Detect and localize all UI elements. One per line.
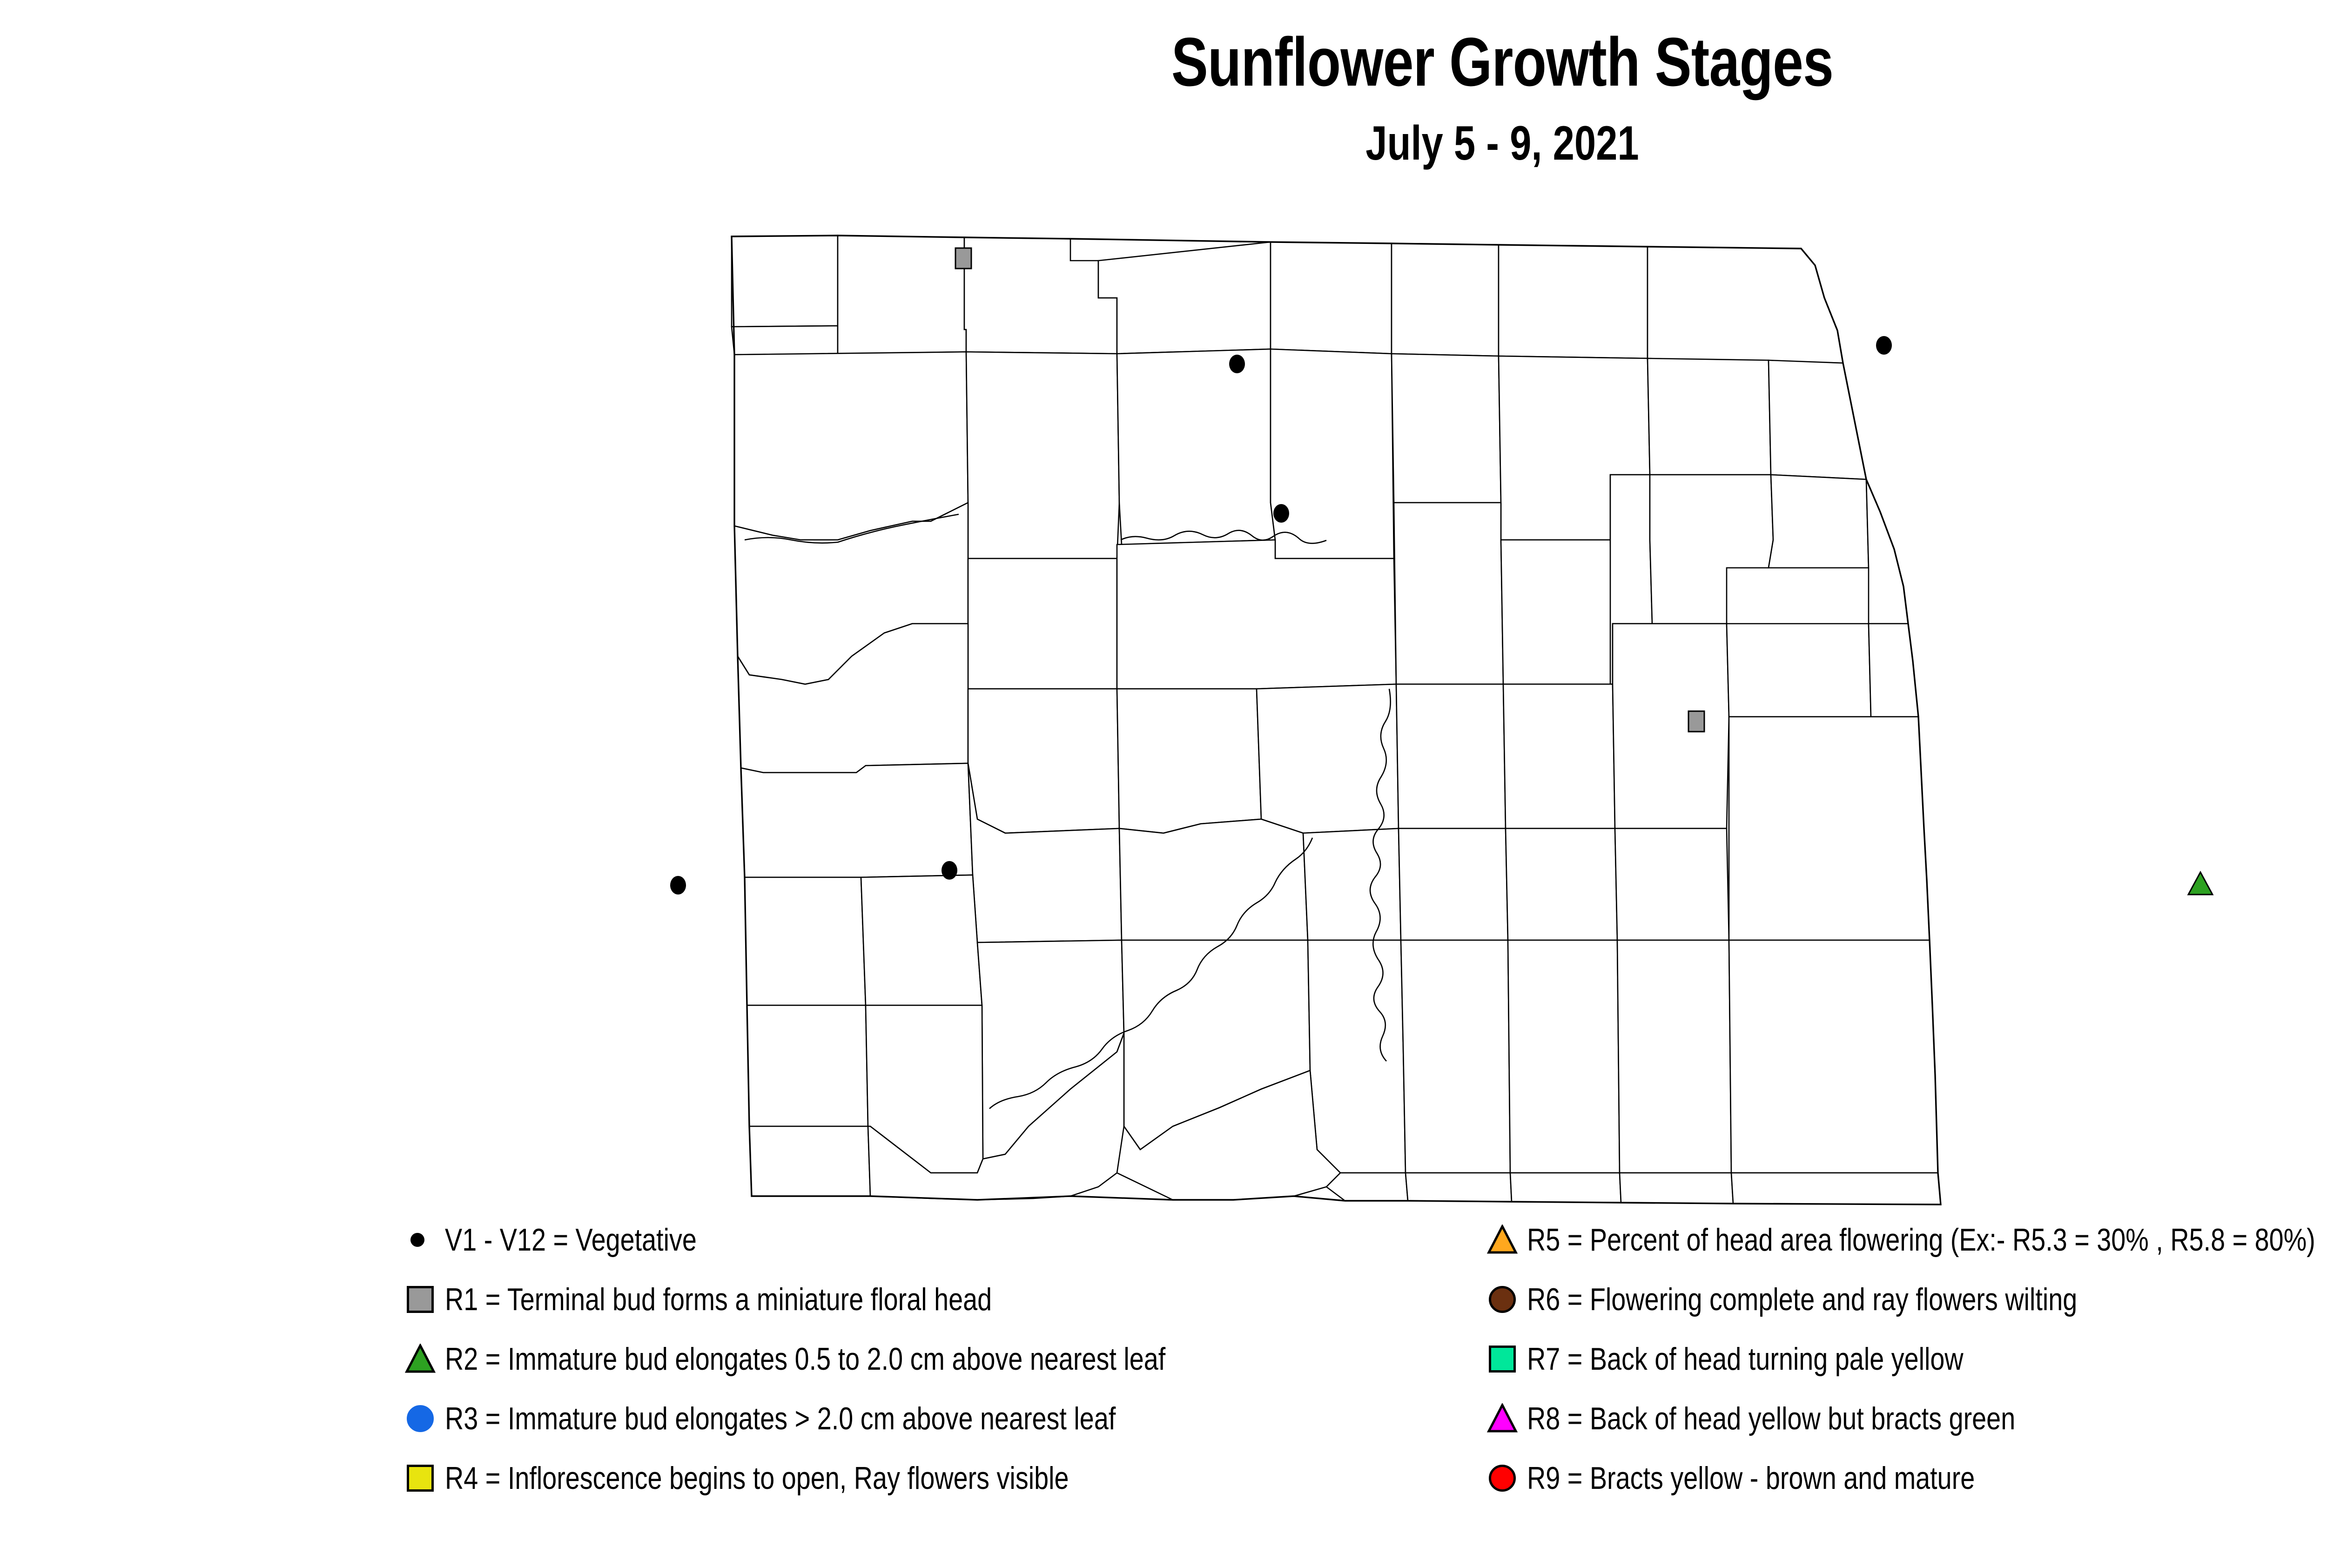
legend-item-label: R8 = Back of head yellow but bracts gree… bbox=[1527, 1403, 2015, 1434]
map-marker-r2 bbox=[2188, 872, 2213, 895]
legend-column-left: V1 - V12 = Vegetative R1 = Terminal bud … bbox=[405, 1210, 1522, 1508]
circle-icon-blue bbox=[407, 1405, 434, 1432]
legend-item-r2[interactable]: R2 = Immature bud elongates 0.5 to 2.0 c… bbox=[405, 1329, 1522, 1389]
map-marker-v bbox=[1273, 504, 1289, 523]
title-block: Sunflower Growth Stages July 5 - 9, 2021 bbox=[0, 28, 2327, 168]
page-root: Sunflower Growth Stages July 5 - 9, 2021 bbox=[0, 0, 2327, 1568]
legend-item-label: R4 = Inflorescence begins to open, Ray f… bbox=[445, 1462, 1069, 1494]
map-marker-r1 bbox=[955, 248, 971, 269]
legend-item-label: R9 = Bracts yellow - brown and mature bbox=[1527, 1462, 1975, 1494]
legend: V1 - V12 = Vegetative R1 = Terminal bud … bbox=[0, 1210, 2327, 1555]
map-marker-r1 bbox=[1688, 711, 1704, 732]
circle-icon-black bbox=[410, 1233, 424, 1247]
legend-item-label: R2 = Immature bud elongates 0.5 to 2.0 c… bbox=[445, 1343, 1165, 1375]
legend-item-v[interactable]: V1 - V12 = Vegetative bbox=[405, 1210, 1522, 1270]
page-subtitle: July 5 - 9, 2021 bbox=[301, 119, 2327, 168]
circle-icon-brown bbox=[1489, 1286, 1516, 1313]
legend-item-r1[interactable]: R1 = Terminal bud forms a miniature flor… bbox=[405, 1270, 1522, 1329]
legend-item-label: R5 = Percent of head area flowering (Ex:… bbox=[1527, 1224, 2315, 1256]
north-dakota-county-map bbox=[652, 214, 2308, 1224]
legend-item-r4[interactable]: R4 = Inflorescence begins to open, Ray f… bbox=[405, 1448, 1522, 1508]
square-icon-gray bbox=[407, 1286, 434, 1313]
legend-item-label: R7 = Back of head turning pale yellow bbox=[1527, 1343, 1964, 1375]
square-icon-yellow bbox=[407, 1465, 434, 1492]
legend-item-r6[interactable]: R6 = Flowering complete and ray flowers … bbox=[1487, 1270, 2327, 1329]
square-icon-springgreen bbox=[1489, 1346, 1516, 1373]
legend-item-label: R3 = Immature bud elongates > 2.0 cm abo… bbox=[445, 1403, 1116, 1434]
map-svg bbox=[652, 214, 2308, 1224]
circle-icon-red bbox=[1489, 1465, 1516, 1492]
map-marker-v bbox=[670, 876, 686, 895]
legend-item-label: R1 = Terminal bud forms a miniature flor… bbox=[445, 1284, 992, 1315]
map-marker-v bbox=[1876, 336, 1892, 355]
map-marker-v bbox=[1229, 355, 1245, 373]
triangle-icon-magenta bbox=[1487, 1403, 1518, 1434]
map-marker-v bbox=[942, 861, 957, 880]
legend-item-r9[interactable]: R9 = Bracts yellow - brown and mature bbox=[1487, 1448, 2327, 1508]
county-polygons bbox=[732, 236, 1941, 1205]
legend-item-r8[interactable]: R8 = Back of head yellow but bracts gree… bbox=[1487, 1389, 2327, 1448]
triangle-icon-green bbox=[405, 1344, 436, 1374]
legend-item-r7[interactable]: R7 = Back of head turning pale yellow bbox=[1487, 1329, 2327, 1389]
legend-item-label: R6 = Flowering complete and ray flowers … bbox=[1527, 1284, 2077, 1315]
legend-column-right: R5 = Percent of head area flowering (Ex:… bbox=[1487, 1210, 2327, 1508]
legend-item-label: V1 - V12 = Vegetative bbox=[445, 1224, 697, 1256]
legend-item-r3[interactable]: R3 = Immature bud elongates > 2.0 cm abo… bbox=[405, 1389, 1522, 1448]
legend-item-r5[interactable]: R5 = Percent of head area flowering (Ex:… bbox=[1487, 1210, 2327, 1270]
triangle-icon-orange bbox=[1487, 1225, 1518, 1255]
page-title: Sunflower Growth Stages bbox=[301, 28, 2327, 97]
